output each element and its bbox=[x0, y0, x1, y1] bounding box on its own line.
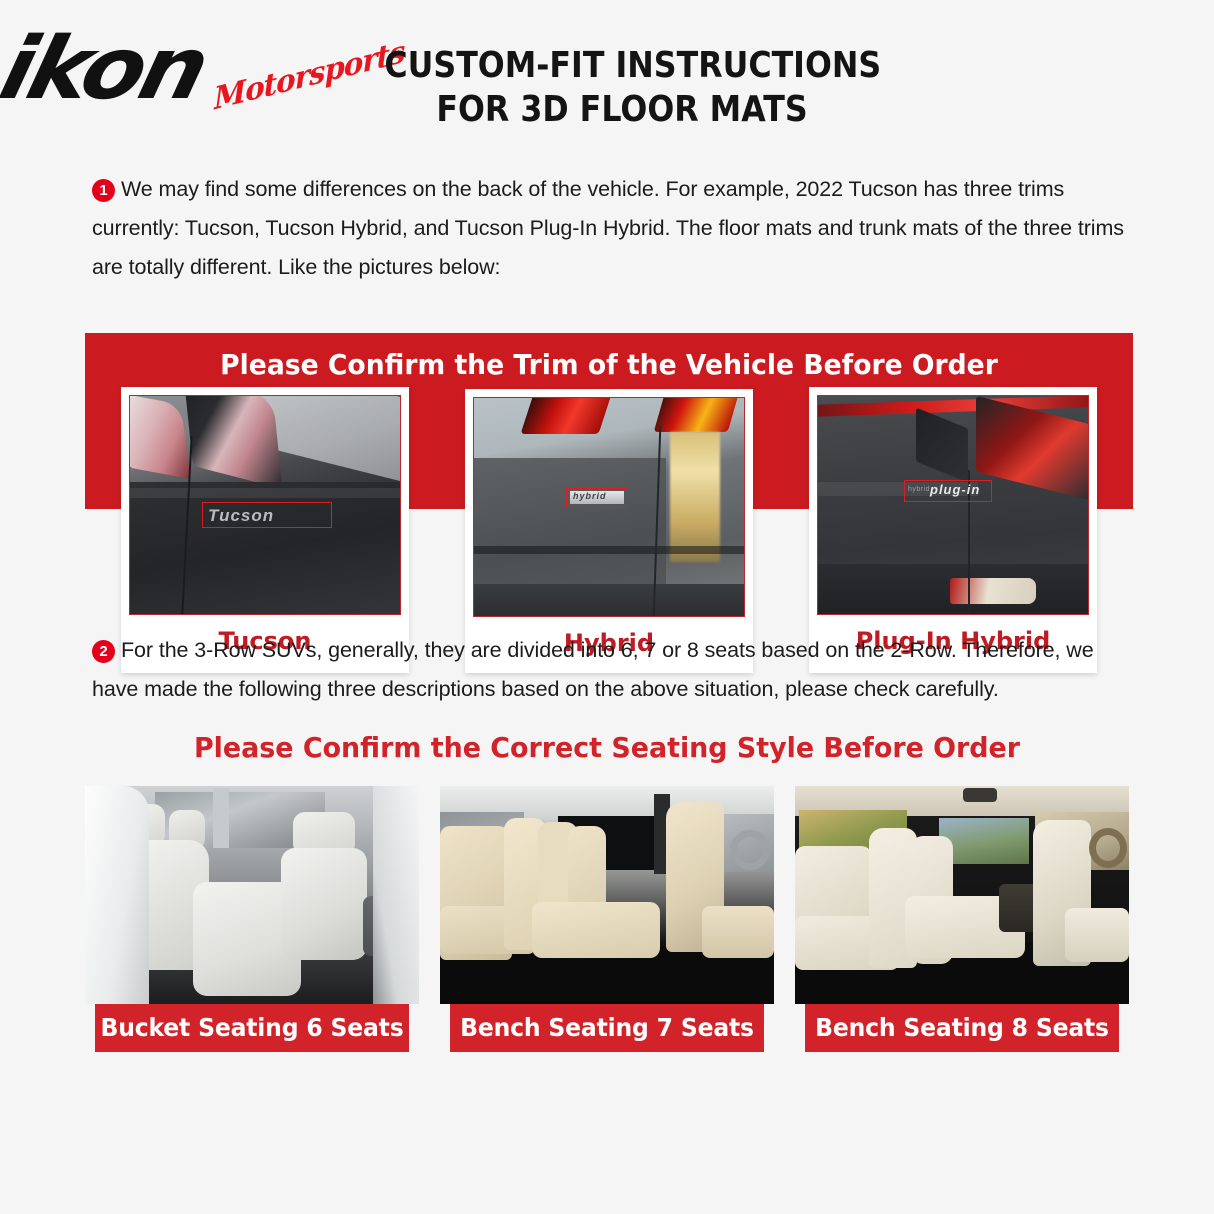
trim-photo-hybrid: hybrid bbox=[473, 397, 745, 617]
seating-card-list: Bucket Seating 6 Seats Bench Seating 7 S… bbox=[0, 786, 1214, 1052]
trim-photo-tucson: Tucson bbox=[129, 395, 401, 615]
seating-caption-wrap: Bucket Seating 6 Seats bbox=[85, 1004, 419, 1052]
taillight-right-shape bbox=[976, 396, 1089, 500]
body-crease bbox=[474, 546, 745, 554]
reflector-shape bbox=[950, 578, 1036, 604]
step-2-number: 2 bbox=[92, 640, 115, 663]
seating-photo-bucket-6 bbox=[85, 786, 419, 1004]
taillight-left-shape bbox=[129, 395, 191, 479]
trim-banner-title: Please Confirm the Trim of the Vehicle B… bbox=[111, 333, 1107, 379]
pillar-shape bbox=[213, 788, 229, 848]
step-2-paragraph: 2For the 3-Row SUVs, generally, they are… bbox=[92, 631, 1128, 709]
steering-wheel-shape bbox=[730, 830, 770, 870]
steering-wheel-shape bbox=[1089, 828, 1127, 868]
seating-card-bucket-6[interactable]: Bucket Seating 6 Seats bbox=[85, 786, 419, 1052]
door-shape bbox=[85, 786, 149, 1004]
rearview-mirror-shape bbox=[963, 788, 997, 802]
seating-card-bench-8[interactable]: Bench Seating 8 Seats bbox=[795, 786, 1129, 1052]
page-title: CUSTOM-FIT INSTRUCTIONS FOR 3D FLOOR MAT… bbox=[352, 44, 892, 132]
door-shape bbox=[373, 786, 419, 1004]
step-2-text: For the 3-Row SUVs, generally, they are … bbox=[92, 638, 1094, 701]
seating-caption-wrap: Bench Seating 7 Seats bbox=[440, 1004, 774, 1052]
seating-photo-bench-7 bbox=[440, 786, 774, 1004]
trim-badge-text: hybrid bbox=[573, 491, 607, 501]
trim-photo-plug-in-hybrid: hybrid plug-in bbox=[817, 395, 1089, 615]
body-reflection bbox=[670, 432, 720, 562]
seating-caption-wrap: Bench Seating 8 Seats bbox=[795, 1004, 1129, 1052]
step-1-paragraph: 1We may find some differences on the bac… bbox=[92, 170, 1128, 287]
trim-badge-text: Tucson bbox=[208, 506, 274, 526]
rear-glass-shape bbox=[260, 395, 401, 486]
seating-caption: Bench Seating 8 Seats bbox=[805, 1004, 1119, 1052]
vent-shape bbox=[916, 407, 968, 482]
step-1-number: 1 bbox=[92, 179, 115, 202]
page-title-line-1: CUSTOM-FIT INSTRUCTIONS bbox=[384, 44, 859, 88]
seat-shape bbox=[1065, 908, 1129, 962]
body-highlight bbox=[130, 488, 401, 498]
trim-confirmation-section: Please Confirm the Trim of the Vehicle B… bbox=[0, 333, 1214, 623]
trim-badge-text: plug-in bbox=[930, 482, 980, 497]
seating-caption: Bucket Seating 6 Seats bbox=[95, 1004, 409, 1052]
taillight-left-shape bbox=[521, 397, 614, 434]
logo-wordmark: ikon bbox=[0, 26, 213, 112]
page-title-line-2: FOR 3D FLOOR MATS bbox=[384, 88, 859, 132]
seating-section-heading: Please Confirm the Correct Seating Style… bbox=[24, 731, 1189, 764]
taillight-right-shape bbox=[654, 397, 741, 432]
taillight-right-shape bbox=[184, 395, 283, 489]
seat-shape bbox=[281, 848, 367, 960]
bumper-shape bbox=[474, 584, 745, 617]
page-header: ikon Motorsports CUSTOM-FIT INSTRUCTIONS… bbox=[0, 0, 1214, 152]
seating-card-bench-7[interactable]: Bench Seating 7 Seats bbox=[440, 786, 774, 1052]
step-1-text: We may find some differences on the back… bbox=[92, 177, 1124, 279]
trim-badge-prefix: hybrid bbox=[908, 486, 930, 493]
seating-photo-bench-8 bbox=[795, 786, 1129, 1004]
seat-shape bbox=[702, 906, 774, 958]
brand-logo: ikon Motorsports bbox=[14, 26, 374, 130]
seat-shape bbox=[532, 902, 660, 958]
seating-caption: Bench Seating 7 Seats bbox=[450, 1004, 764, 1052]
